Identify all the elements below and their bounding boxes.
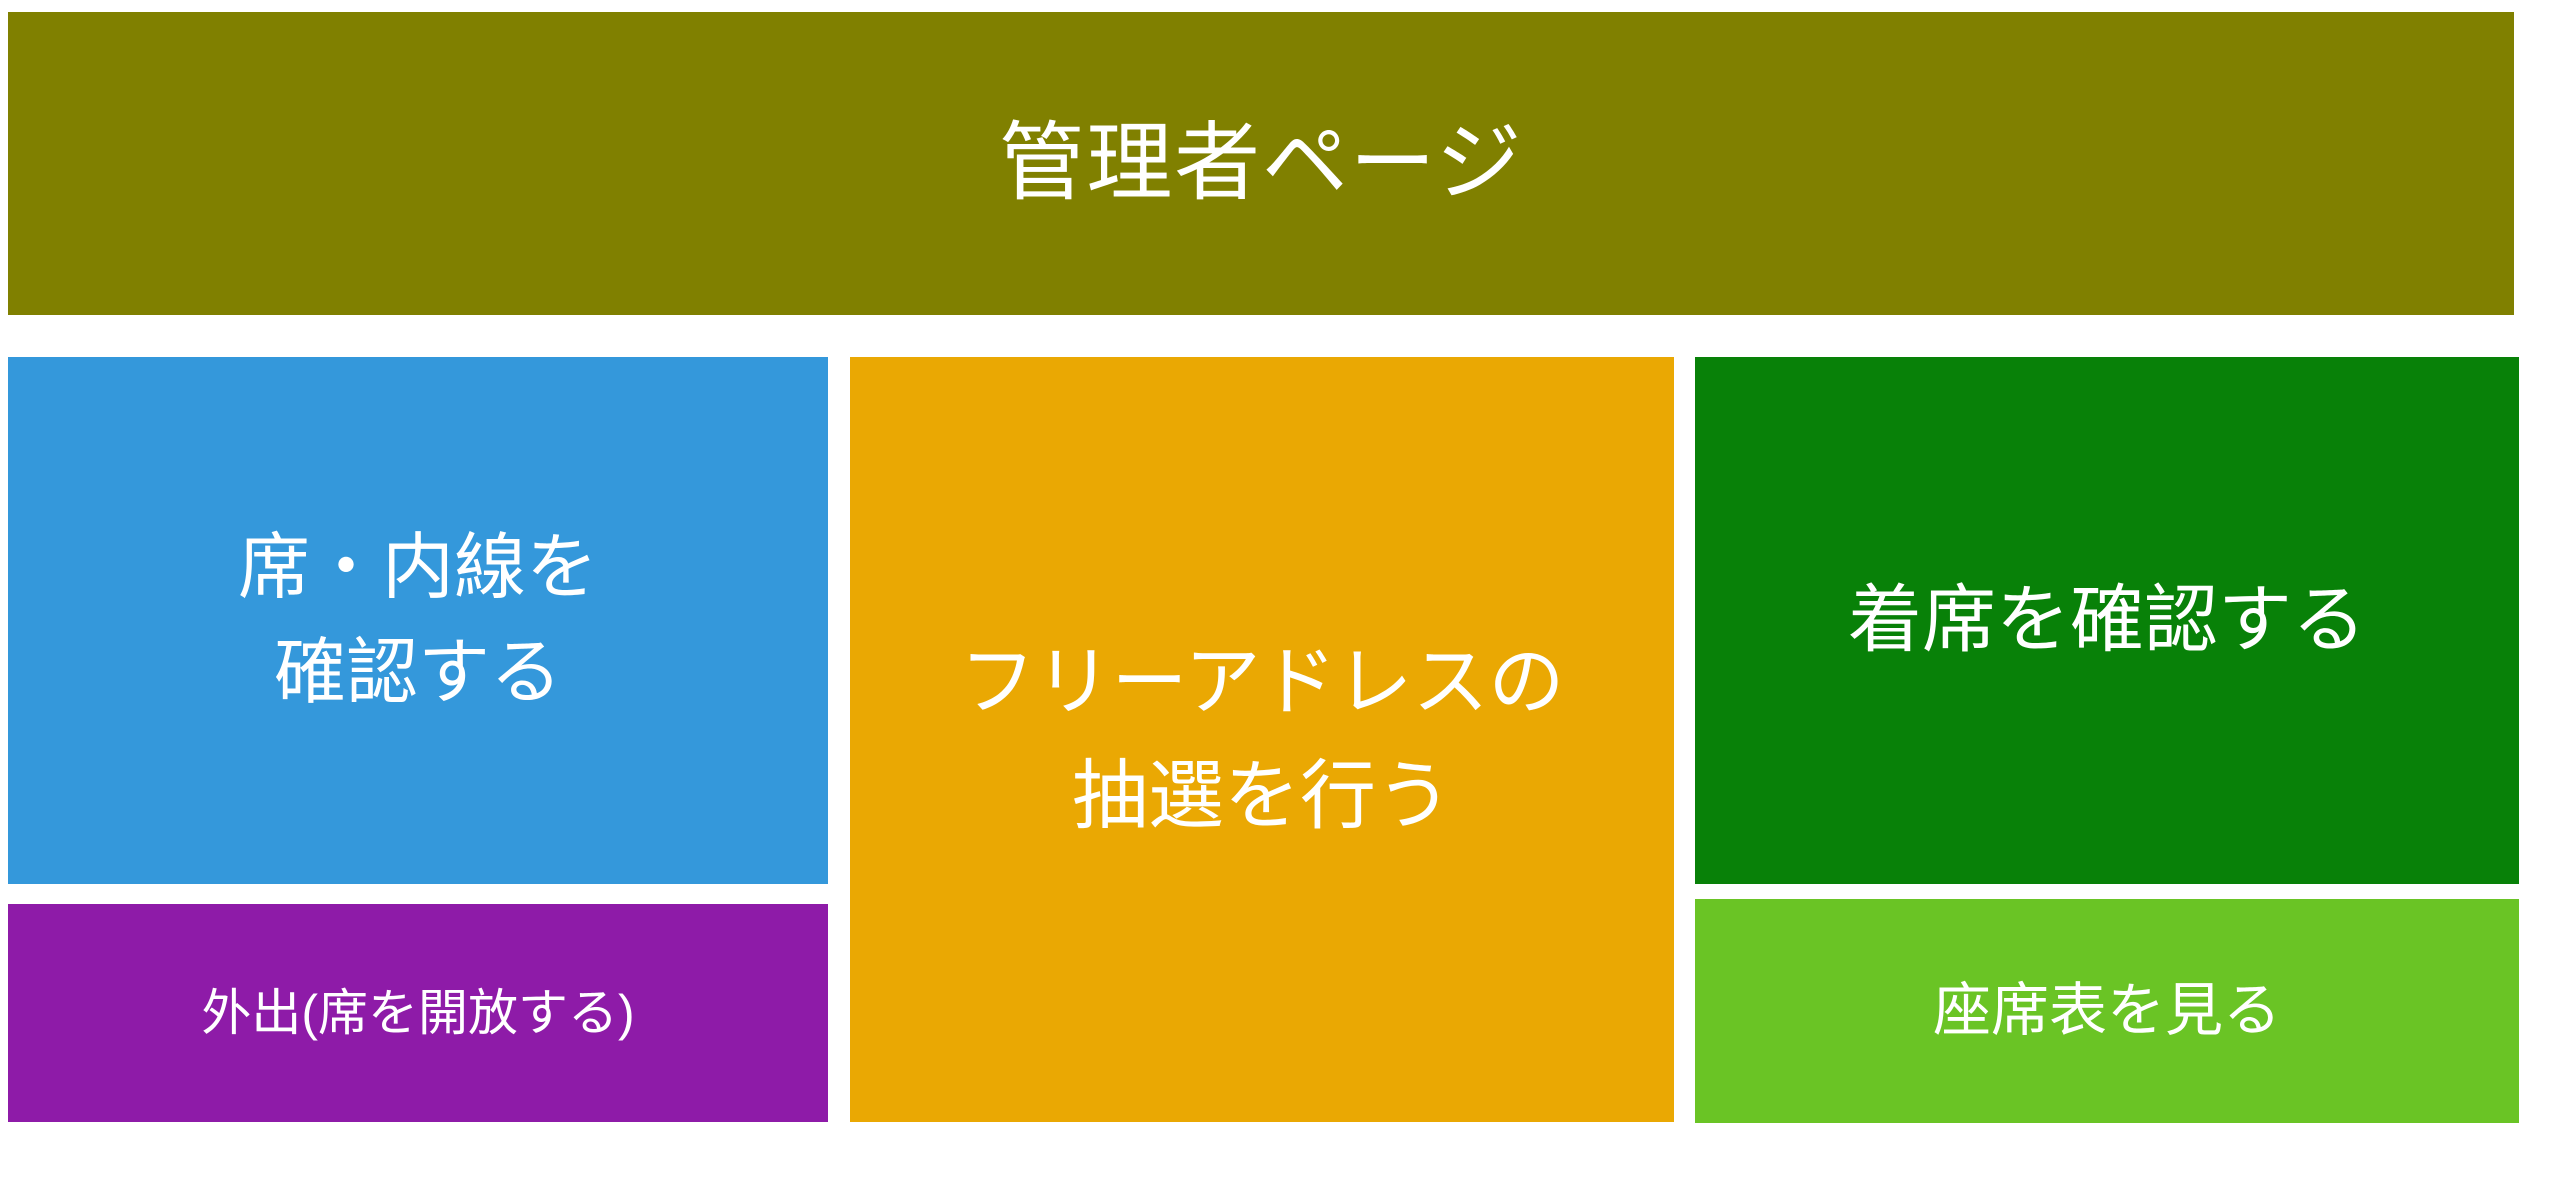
tile-view-seat-map-label: 座席表を見る <box>1933 973 2281 1048</box>
page-header-banner: 管理者ページ <box>8 12 2514 315</box>
page-title: 管理者ページ <box>999 116 1524 211</box>
tile-seat-extension[interactable]: 席・内線を 確認する <box>8 357 828 884</box>
tile-go-out-release-seat[interactable]: 外出(席を開放する) <box>8 904 828 1122</box>
tile-view-seat-map[interactable]: 座席表を見る <box>1695 899 2519 1123</box>
admin-page-root: 管理者ページ 席・内線を 確認する 外出(席を開放する) フリーアドレスの 抽選… <box>0 0 2552 1203</box>
tile-free-address-lottery[interactable]: フリーアドレスの 抽選を行う <box>850 357 1674 1122</box>
tile-confirm-seated-label: 着席を確認する <box>1848 572 2366 668</box>
tile-confirm-seated[interactable]: 着席を確認する <box>1695 357 2519 884</box>
tile-seat-extension-label: 席・内線を 確認する <box>238 516 598 725</box>
tile-go-out-release-seat-label: 外出(席を開放する) <box>201 981 634 1046</box>
tile-free-address-lottery-label: フリーアドレスの 抽選を行う <box>960 626 1565 854</box>
